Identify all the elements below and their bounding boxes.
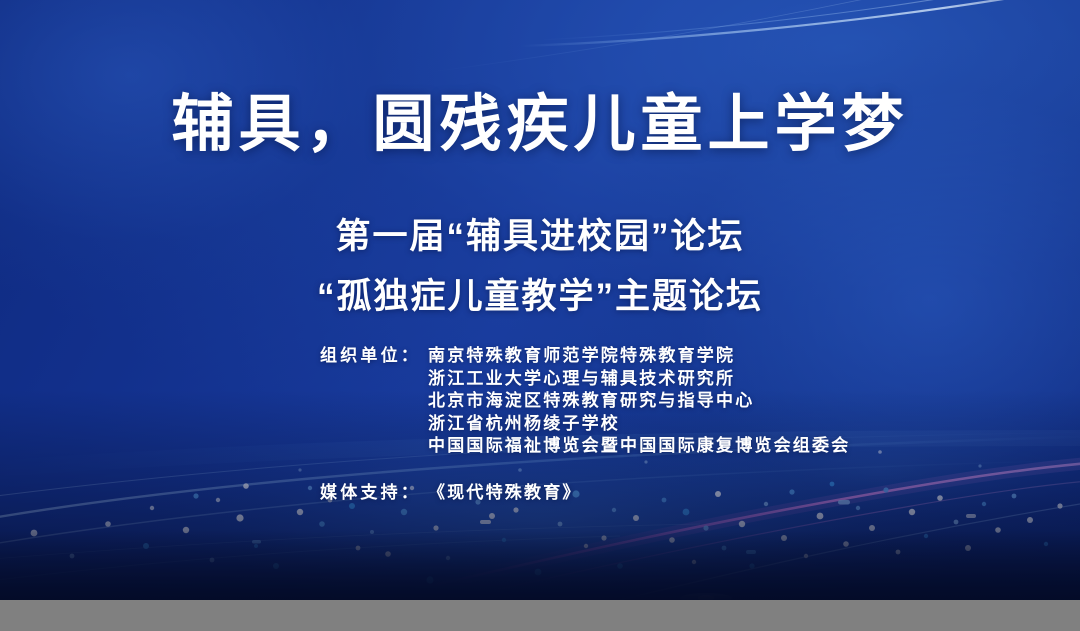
organizer-item: 浙江省杭州杨绫子学校 bbox=[428, 413, 850, 436]
organizer-item: 南京特殊教育师范学院特殊教育学院 bbox=[428, 345, 850, 368]
media-support-row: 媒体支持： 《现代特殊教育》 bbox=[320, 482, 850, 505]
organizer-item: 中国国际福祉博览会暨中国国际康复博览会组委会 bbox=[428, 435, 850, 458]
poster-content: 辅具，圆残疾儿童上学梦 第一届“辅具进校园”论坛 “孤独症儿童教学”主题论坛 组… bbox=[0, 0, 1080, 600]
poster-subtitle-theme: “孤独症儿童教学”主题论坛 bbox=[0, 268, 1080, 319]
event-poster: 辅具，圆残疾儿童上学梦 第一届“辅具进校园”论坛 “孤独症儿童教学”主题论坛 组… bbox=[0, 0, 1080, 600]
media-support-item: 《现代特殊教育》 bbox=[428, 482, 850, 505]
poster-main-title: 辅具，圆残疾儿童上学梦 bbox=[0, 92, 1080, 159]
media-support-label: 媒体支持： bbox=[320, 482, 428, 504]
media-support-list: 《现代特殊教育》 bbox=[428, 482, 850, 505]
bottom-gray-band bbox=[0, 600, 1080, 631]
organizer-label: 组织单位： bbox=[320, 345, 428, 367]
organizer-row: 组织单位： 南京特殊教育师范学院特殊教育学院 浙江工业大学心理与辅具技术研究所 … bbox=[320, 345, 850, 458]
poster-subtitle-forum: 第一届“辅具进校园”论坛 bbox=[0, 208, 1080, 259]
organizer-item: 浙江工业大学心理与辅具技术研究所 bbox=[428, 368, 850, 391]
screenshot-stage: 辅具，圆残疾儿童上学梦 第一届“辅具进校园”论坛 “孤独症儿童教学”主题论坛 组… bbox=[0, 0, 1080, 631]
poster-credits: 组织单位： 南京特殊教育师范学院特殊教育学院 浙江工业大学心理与辅具技术研究所 … bbox=[320, 345, 850, 504]
organizer-item: 北京市海淀区特殊教育研究与指导中心 bbox=[428, 390, 850, 413]
organizer-list: 南京特殊教育师范学院特殊教育学院 浙江工业大学心理与辅具技术研究所 北京市海淀区… bbox=[428, 345, 850, 458]
